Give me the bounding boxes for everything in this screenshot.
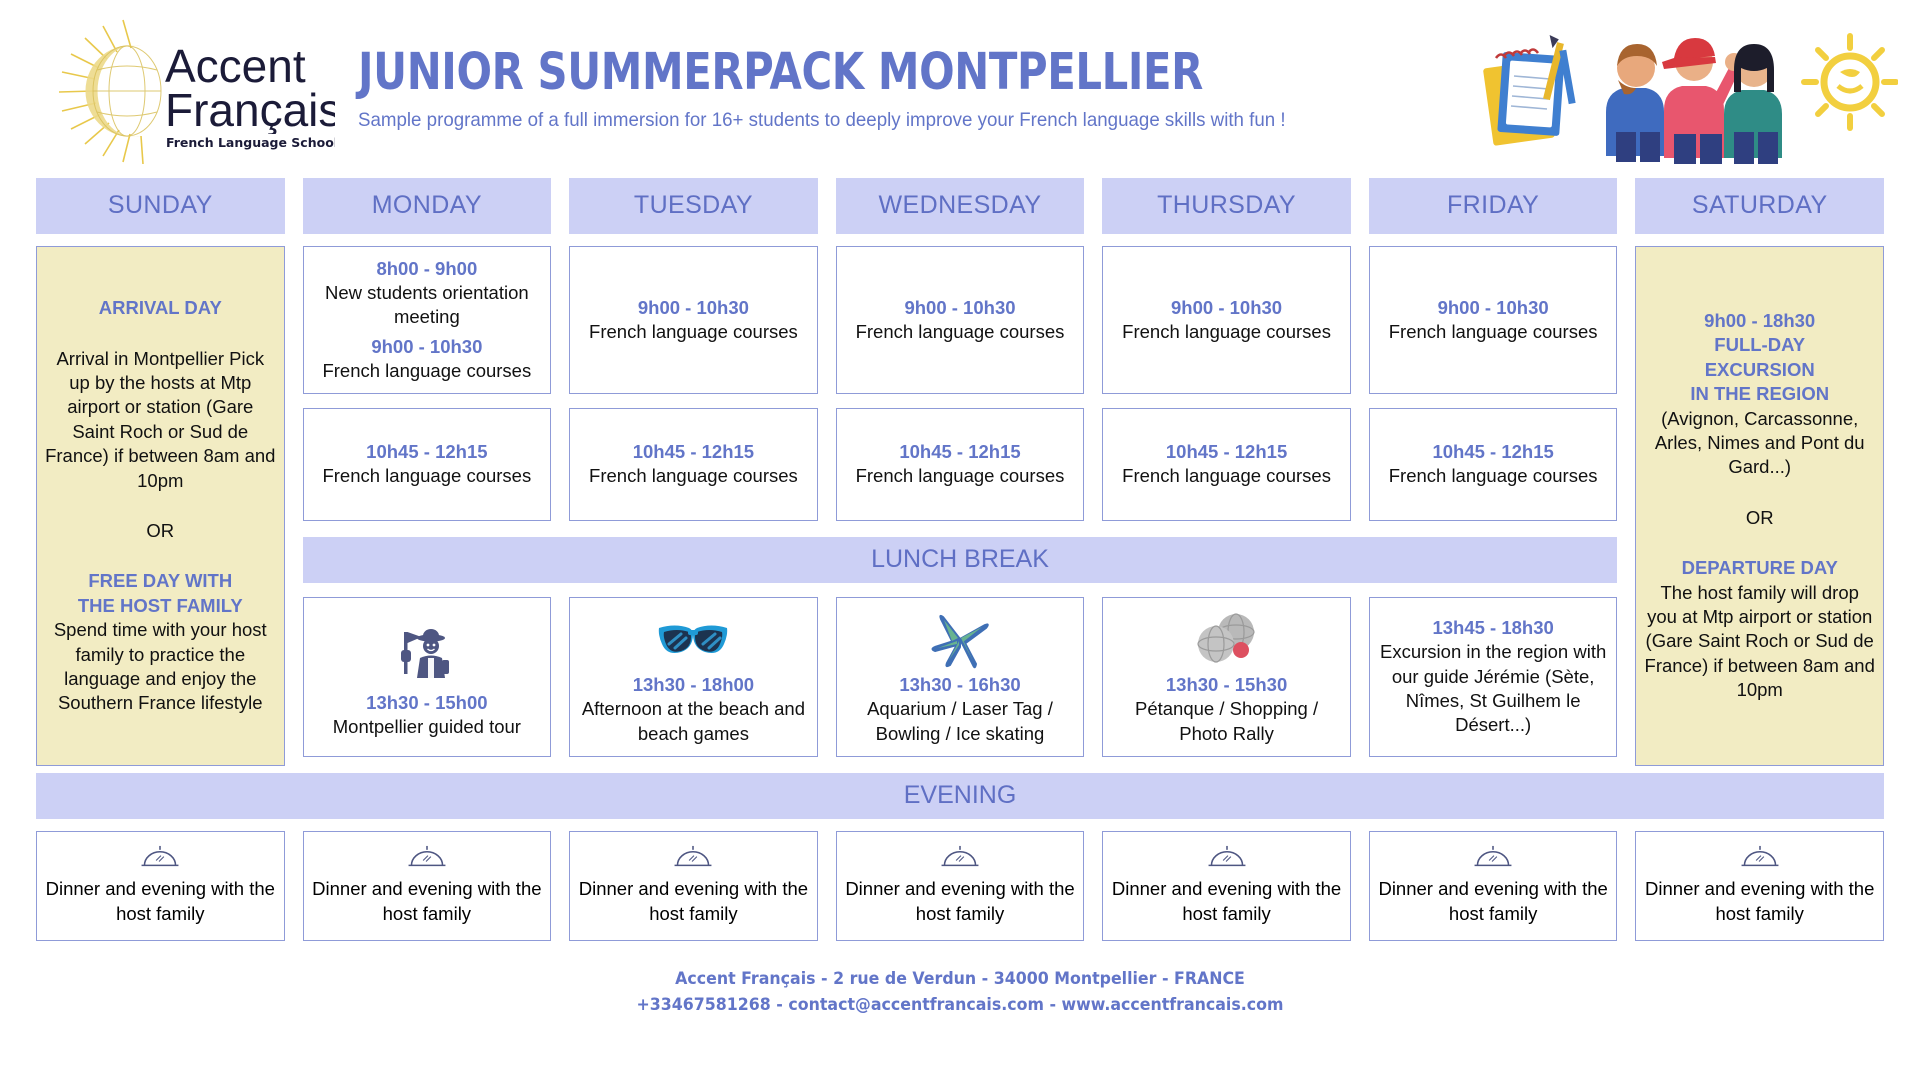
tuesday-late-morning-time: 10h45 - 12h15 xyxy=(633,440,754,464)
friday-afternoon-time: 13h45 - 18h30 xyxy=(1432,616,1553,640)
dinner-cell-thursday: Dinner and evening with the host family xyxy=(1102,831,1351,941)
dinner-cell-tuesday: Dinner and evening with the host family xyxy=(569,831,818,941)
thursday-block1-desc: French language courses xyxy=(1122,320,1331,344)
page-subtitle: Sample programme of a full immersion for… xyxy=(358,109,1347,132)
saturday-title-line1: FULL-DAY xyxy=(1714,333,1805,357)
wednesday-late-morning-desc: French language courses xyxy=(856,464,1065,488)
dinner-text-saturday: Dinner and evening with the host family xyxy=(1642,877,1877,926)
monday-morning-cell-2: 10h45 - 12h15 French language courses xyxy=(303,408,552,521)
dinner-text-sunday: Dinner and evening with the host family xyxy=(43,877,278,926)
friday-afternoon-cell: 13h45 - 18h30 Excursion in the region wi… xyxy=(1369,597,1618,757)
friday-late-morning-desc: French language courses xyxy=(1389,464,1598,488)
monday-afternoon-desc: Montpellier guided tour xyxy=(333,715,521,739)
petanque-icon xyxy=(1194,608,1260,671)
starfish-icon xyxy=(929,608,991,671)
tuesday-block1-desc: French language courses xyxy=(589,320,798,344)
friday-afternoon-desc: Excursion in the region with our guide J… xyxy=(1378,640,1609,738)
thursday-block1-time: 9h00 - 10h30 xyxy=(1171,296,1282,320)
logo-graphic: Accent Français French Language School S… xyxy=(45,10,335,168)
logo-tagline: French Language School Since 1998 xyxy=(166,135,335,150)
wednesday-morning-cell-1: 9h00 - 10h30 French language courses xyxy=(836,246,1085,394)
wednesday-block1-time: 9h00 - 10h30 xyxy=(904,296,1015,320)
wednesday-afternoon-desc: Aquarium / Laser Tag / Bowling / Ice ska… xyxy=(845,697,1076,746)
thursday-afternoon-time: 13h30 - 15h30 xyxy=(1166,673,1287,697)
students-illustration xyxy=(1606,38,1782,164)
thursday-afternoon-cell: 13h30 - 15h30 Pétanque / Shopping / Phot… xyxy=(1102,597,1351,757)
saturday-time: 9h00 - 18h30 xyxy=(1704,309,1815,333)
sunday-freeday-title-line1: FREE DAY WITH xyxy=(88,569,232,593)
day-header-thursday: THURSDAY xyxy=(1102,178,1351,234)
dinner-cell-saturday: Dinner and evening with the host family xyxy=(1635,831,1884,941)
monday-block1-time: 8h00 - 9h00 xyxy=(376,257,477,281)
monday-afternoon-time: 13h30 - 15h00 xyxy=(366,691,487,715)
dinner-cell-monday: Dinner and evening with the host family xyxy=(303,831,552,941)
weekly-schedule: SUNDAY MONDAY TUESDAY WEDNESDAY THURSDAY… xyxy=(0,178,1920,1018)
tuesday-afternoon-time: 13h30 - 18h00 xyxy=(633,673,754,697)
dinner-cell-friday: Dinner and evening with the host family xyxy=(1369,831,1618,941)
friday-block1-time: 9h00 - 10h30 xyxy=(1438,296,1549,320)
wednesday-afternoon-cell: 13h30 - 16h30 Aquarium / Laser Tag / Bow… xyxy=(836,597,1085,757)
day-header-saturday: SATURDAY xyxy=(1635,178,1884,234)
day-header-monday: MONDAY xyxy=(303,178,552,234)
day-header-row: SUNDAY MONDAY TUESDAY WEDNESDAY THURSDAY… xyxy=(36,178,1884,234)
sunday-arrival-title: ARRIVAL DAY xyxy=(99,296,222,320)
cloche-icon xyxy=(406,844,448,871)
monday-afternoon-cell: 13h30 - 15h00 Montpellier guided tour xyxy=(303,597,552,757)
sunday-or: OR xyxy=(146,519,174,543)
cloche-icon xyxy=(139,844,181,871)
tuesday-block1-time: 9h00 - 10h30 xyxy=(638,296,749,320)
cloche-icon xyxy=(1206,844,1248,871)
saturday-excursion-body: (Avignon, Carcassonne, Arles, Nimes and … xyxy=(1644,407,1875,480)
footer-contact: +33467581268 - contact@accentfrancais.co… xyxy=(101,993,1820,1019)
thursday-morning-cell-1: 9h00 - 10h30 French language courses xyxy=(1102,246,1351,394)
friday-late-morning-time: 10h45 - 12h15 xyxy=(1432,440,1553,464)
monday-block2-time: 9h00 - 10h30 xyxy=(371,335,482,359)
footer: Accent Français - 2 rue de Verdun - 3400… xyxy=(101,967,1820,1018)
title-block: JUNIOR SUMMERPACK MONTPELLIER Sample pro… xyxy=(358,46,1388,132)
wednesday-morning-cell-2: 10h45 - 12h15 French language courses xyxy=(836,408,1085,521)
cloche-icon xyxy=(672,844,714,871)
dinner-cell-sunday: Dinner and evening with the host family xyxy=(36,831,285,941)
monday-block1-desc: New students orientation meeting xyxy=(312,281,543,330)
monday-late-morning-desc: French language courses xyxy=(322,464,531,488)
dinner-cell-wednesday: Dinner and evening with the host family xyxy=(836,831,1085,941)
dinner-text-wednesday: Dinner and evening with the host family xyxy=(843,877,1078,926)
dinner-text-tuesday: Dinner and evening with the host family xyxy=(576,877,811,926)
logo-name-line2: Français xyxy=(165,84,335,136)
page-header: Accent Français French Language School S… xyxy=(0,0,1920,178)
saturday-title-line3: IN THE REGION xyxy=(1690,382,1829,406)
tuesday-afternoon-cell: 13h30 - 18h00 Afternoon at the beach and… xyxy=(569,597,818,757)
evening-band: EVENING xyxy=(36,773,1884,819)
cloche-icon xyxy=(939,844,981,871)
stationery-icon xyxy=(1483,35,1576,146)
day-header-friday: FRIDAY xyxy=(1369,178,1618,234)
header-illustration xyxy=(1478,6,1898,166)
monday-late-morning-time: 10h45 - 12h15 xyxy=(366,440,487,464)
wednesday-late-morning-time: 10h45 - 12h15 xyxy=(899,440,1020,464)
dinner-text-thursday: Dinner and evening with the host family xyxy=(1109,877,1344,926)
monday-morning-cell-1: 8h00 - 9h00 New students orientation mee… xyxy=(303,246,552,394)
page-title: JUNIOR SUMMERPACK MONTPELLIER xyxy=(358,46,1203,100)
thursday-late-morning-time: 10h45 - 12h15 xyxy=(1166,440,1287,464)
friday-block1-desc: French language courses xyxy=(1389,320,1598,344)
wednesday-afternoon-time: 13h30 - 16h30 xyxy=(899,673,1020,697)
sunday-arrival-body: Arrival in Montpellier Pick up by the ho… xyxy=(45,347,276,493)
tuesday-morning-cell-1: 9h00 - 10h30 French language courses xyxy=(569,246,818,394)
saturday-or: OR xyxy=(1746,506,1774,530)
sunglasses-icon xyxy=(655,608,731,671)
cloche-icon xyxy=(1472,844,1514,871)
saturday-title-line2: EXCURSION xyxy=(1705,358,1815,382)
tuesday-morning-cell-2: 10h45 - 12h15 French language courses xyxy=(569,408,818,521)
friday-morning-cell-2: 10h45 - 12h15 French language courses xyxy=(1369,408,1618,521)
tuesday-afternoon-desc: Afternoon at the beach and beach games xyxy=(578,697,809,746)
thursday-afternoon-desc: Pétanque / Shopping / Photo Rally xyxy=(1111,697,1342,746)
tuesday-late-morning-desc: French language courses xyxy=(589,464,798,488)
footer-address: Accent Français - 2 rue de Verdun - 3400… xyxy=(101,967,1820,993)
thursday-morning-cell-2: 10h45 - 12h15 French language courses xyxy=(1102,408,1351,521)
cloche-icon xyxy=(1739,844,1781,871)
tour-guide-icon xyxy=(398,615,456,689)
dinner-text-friday: Dinner and evening with the host family xyxy=(1376,877,1611,926)
accent-francais-logo: Accent Français French Language School S… xyxy=(40,10,340,168)
day-header-wednesday: WEDNESDAY xyxy=(836,178,1085,234)
wednesday-block1-desc: French language courses xyxy=(856,320,1065,344)
evening-row: Dinner and evening with the host family … xyxy=(36,831,1884,941)
saturday-departure-title: DEPARTURE DAY xyxy=(1682,556,1838,580)
day-header-sunday: SUNDAY xyxy=(36,178,285,234)
monday-block2-desc: French language courses xyxy=(322,359,531,383)
sun-icon xyxy=(1804,36,1896,128)
day-header-tuesday: TUESDAY xyxy=(569,178,818,234)
thursday-late-morning-desc: French language courses xyxy=(1122,464,1331,488)
dinner-text-monday: Dinner and evening with the host family xyxy=(310,877,545,926)
friday-morning-cell-1: 9h00 - 10h30 French language courses xyxy=(1369,246,1618,394)
